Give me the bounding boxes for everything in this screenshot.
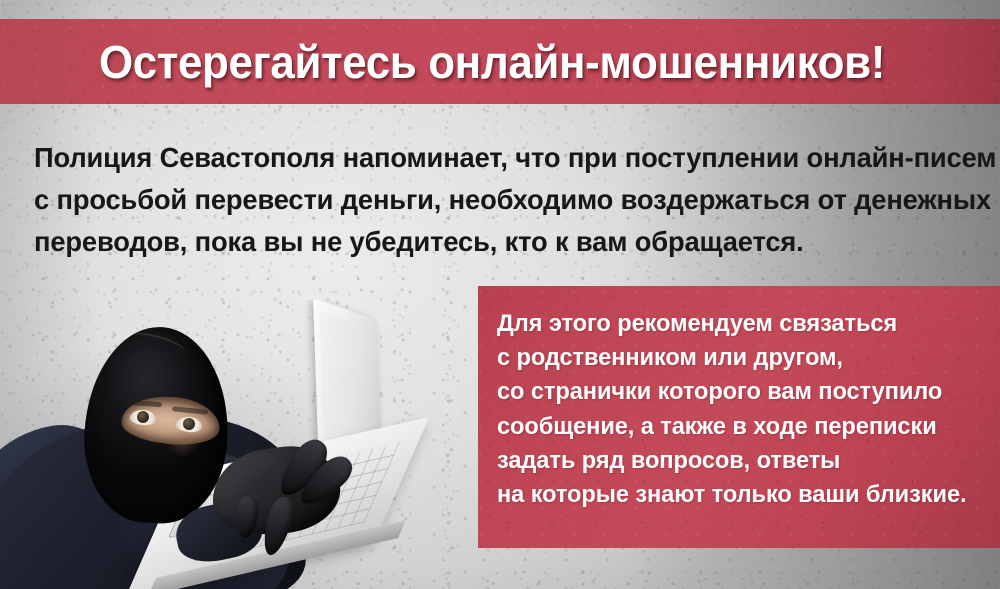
callout-line: со странички которого вам поступило xyxy=(497,375,990,409)
nose-shading xyxy=(166,431,200,457)
lede-paragraph: Полиция Севастополя напоминает, что при … xyxy=(34,137,980,263)
advice-callout-text: Для этого рекомендуем связаться с родств… xyxy=(497,307,997,512)
headline-banner: Остерегайтесь онлайн-мошенников! xyxy=(0,19,1000,104)
advice-callout-box: Для этого рекомендуем связаться с родств… xyxy=(478,286,1000,548)
callout-line: с родственником или другом, xyxy=(497,341,990,375)
callout-line: Для этого рекомендуем связаться xyxy=(497,307,990,341)
callout-line: задать ряд вопросов, ответы xyxy=(497,444,990,478)
lede-line: Полиция Севастополя напоминает, что при … xyxy=(34,137,956,179)
hacker-photo xyxy=(0,300,470,589)
headline-title: Остерегайтесь онлайн-мошенников! xyxy=(99,35,885,89)
lede-line: с просьбой перевести деньги, необходимо … xyxy=(34,179,956,221)
callout-line: сообщение, а также в ходе переписки xyxy=(497,410,990,444)
lede-line: переводов, пока вы не убедитесь, кто к в… xyxy=(34,221,956,263)
callout-line: на которые знают только ваши близкие. xyxy=(497,478,990,512)
pupil-right xyxy=(183,418,195,430)
pupil-left xyxy=(137,411,149,423)
poster: Остерегайтесь онлайн-мошенников! Полиция… xyxy=(0,0,1000,589)
